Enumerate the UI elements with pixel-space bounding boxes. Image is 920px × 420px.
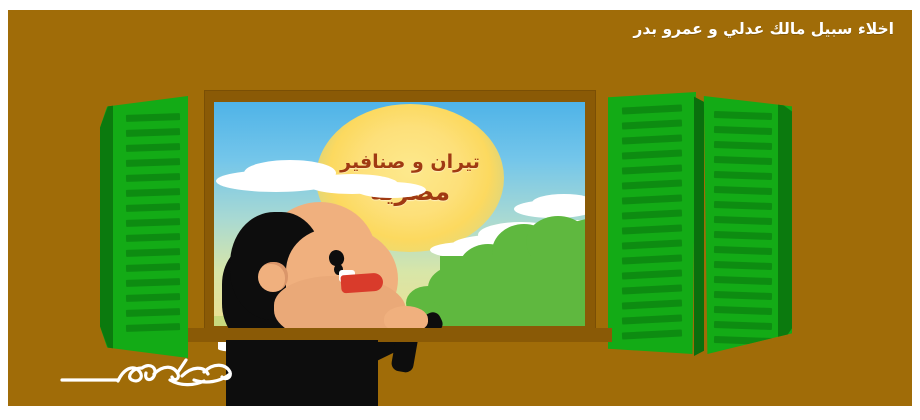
artist-signature — [54, 350, 244, 392]
shutter-right-inner-louvers — [608, 92, 696, 354]
sun-slogan-line-1: تيران و صنافير — [340, 151, 480, 173]
cartoon-page: اخلاء سبيل مالك عدلي و عمرو بدر — [0, 0, 920, 420]
shutter-right-outer-louvers — [702, 96, 792, 354]
shutter-left — [100, 96, 188, 358]
suit-lower-body — [226, 340, 378, 406]
shutter-gap-shadow — [694, 94, 704, 356]
shutter-left-louvers — [100, 96, 188, 358]
window-assembly: تيران و صنافير مصريه — [8, 10, 912, 406]
shutter-right-inner — [608, 92, 696, 354]
cartoon-poster: اخلاء سبيل مالك عدلي و عمرو بدر — [8, 10, 912, 406]
ear — [258, 262, 288, 292]
tongue — [340, 273, 383, 294]
shutter-right-outer — [702, 96, 792, 354]
